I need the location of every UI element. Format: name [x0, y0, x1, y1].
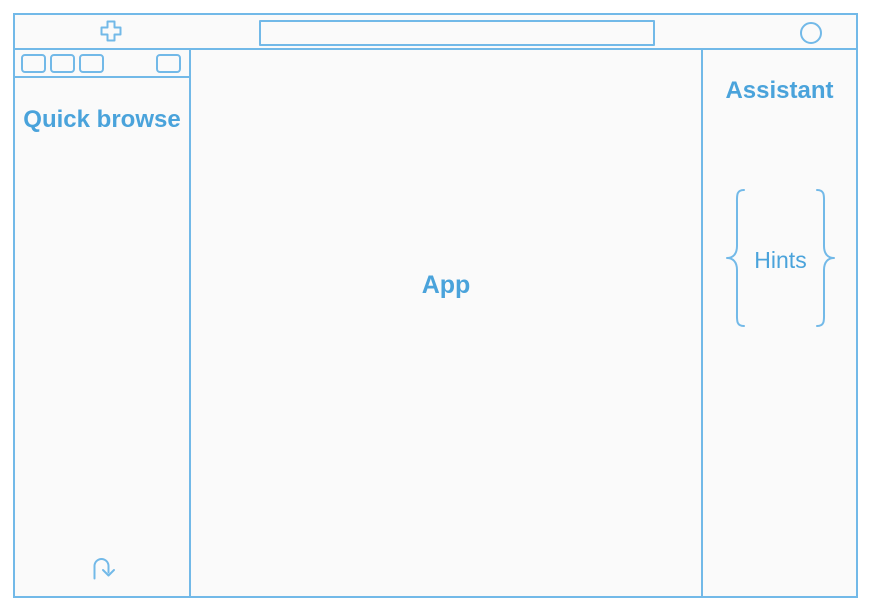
assistant-panel: Assistant Hints: [701, 50, 856, 596]
sidebar-tab-2[interactable]: [50, 54, 75, 73]
sidebar-tab-4[interactable]: [156, 54, 181, 73]
sidebar-content: Quick browse: [15, 78, 189, 596]
return-button[interactable]: [15, 553, 189, 588]
sidebar-tab-3[interactable]: [79, 54, 104, 73]
app-label: App: [422, 271, 471, 300]
brace-left-icon: [724, 188, 748, 333]
u-turn-arrow-icon: [86, 553, 118, 588]
sidebar: Quick browse: [15, 50, 191, 596]
brace-right-icon: [813, 188, 837, 333]
hints-block: Hints: [711, 190, 850, 330]
sidebar-tab-1[interactable]: [21, 54, 46, 73]
assistant-title: Assistant: [703, 77, 856, 105]
plus-icon: [98, 19, 124, 47]
top-toolbar: [15, 15, 856, 50]
sidebar-tab-bar: [15, 50, 189, 78]
search-input[interactable]: [259, 20, 655, 46]
quick-browse-title: Quick browse: [15, 105, 189, 135]
window-body: Quick browse App Assistant: [15, 50, 856, 596]
avatar[interactable]: [800, 22, 822, 44]
app-content-area: App: [191, 50, 701, 596]
add-button[interactable]: [97, 19, 125, 46]
hints-label: Hints: [748, 247, 812, 274]
wireframe-window: Quick browse App Assistant: [13, 13, 858, 598]
